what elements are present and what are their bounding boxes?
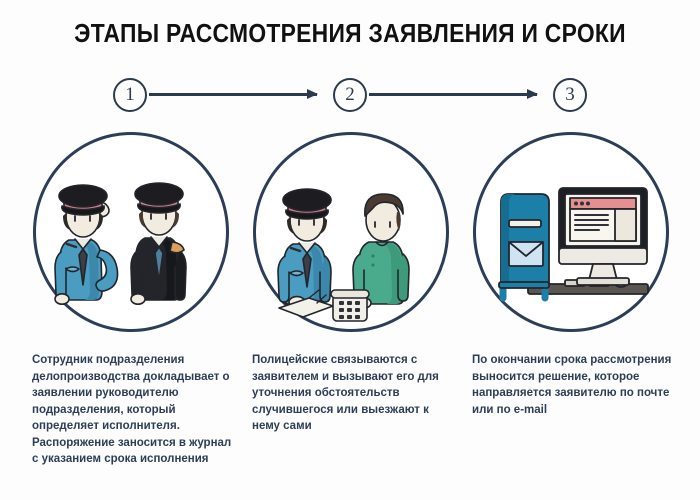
illustration-policeman-and-applicant [253, 132, 449, 332]
step-circle-2: 2 [333, 78, 367, 112]
step-rail: 1 2 3 [0, 74, 700, 120]
rail-arrow-1-to-2 [149, 93, 317, 96]
step-number-1: 1 [125, 84, 135, 106]
step-number-3: 3 [565, 84, 575, 106]
step-circle-3: 3 [553, 78, 587, 112]
caption-step-1: Сотрудник подразделения делопроизводства… [32, 352, 232, 468]
caption-step-3: По окончании срока рассмотрения выноситс… [472, 352, 692, 418]
step-circle-1: 1 [113, 78, 147, 112]
page-title: ЭТАПЫ РАССМОТРЕНИЯ ЗАЯВЛЕНИЯ И СРОКИ [42, 18, 658, 49]
rail-arrow-2-to-3 [369, 93, 537, 96]
caption-step-2: Полицейские связываются с заявителем и в… [252, 352, 457, 435]
illustration-mailbox-and-computer [473, 132, 669, 332]
illustration-two-police-officers [33, 132, 229, 332]
step-number-2: 2 [345, 84, 355, 106]
